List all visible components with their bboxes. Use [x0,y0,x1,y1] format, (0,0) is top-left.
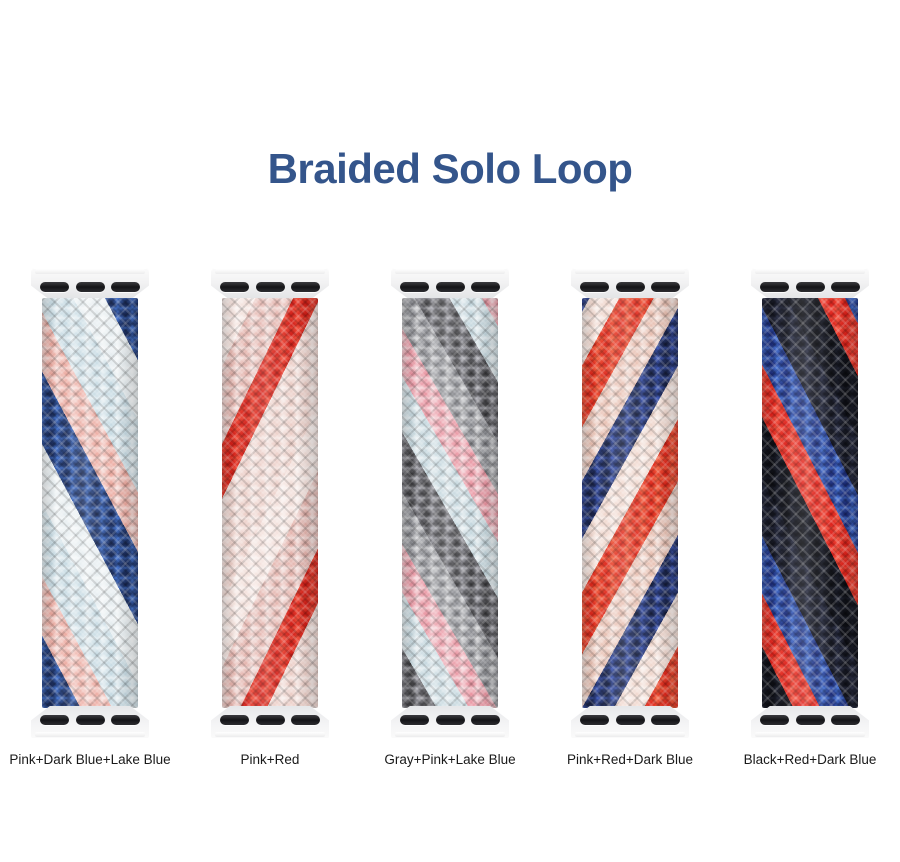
band-connector-slot-icon [760,282,789,292]
band-connector-slot-icon [256,282,285,292]
band-caption: Black+Red+Dark Blue [720,752,900,772]
band-connector-slot-icon [400,715,429,725]
band-connector-slot-icon [291,282,320,292]
band-connector-slot-icon [436,715,465,725]
lug-slot-group [40,281,140,292]
watch-band-lug-bottom [571,706,689,738]
watch-band[interactable] [391,268,509,738]
watch-band-lug-bottom [211,706,329,738]
band-connector-slot-icon [471,282,500,292]
lug-edge [215,732,325,737]
braid-shading [762,298,858,708]
lug-edge [575,732,685,737]
band-item[interactable] [360,268,540,738]
lug-slot-group [220,281,320,292]
watch-band-lug-bottom [391,706,509,738]
lug-slot-group [220,714,320,725]
band-connector-slot-icon [256,715,285,725]
band-connector-slot-icon [831,715,860,725]
braid-shading [222,298,318,708]
watch-band-lug-top [391,268,509,300]
band-connector-slot-icon [831,282,860,292]
band-connector-slot-icon [580,715,609,725]
band-connector-slot-icon [76,282,105,292]
watch-band-lug-bottom [31,706,149,738]
band-connector-slot-icon [40,715,69,725]
watch-band[interactable] [571,268,689,738]
band-connector-slot-icon [796,715,825,725]
lug-slot-group [400,714,500,725]
lug-edge [395,269,505,274]
lug-slot-group [400,281,500,292]
watch-band[interactable] [31,268,149,738]
page-title: Braided Solo Loop [0,145,900,193]
band-connector-slot-icon [220,715,249,725]
band-connector-slot-icon [796,282,825,292]
band-connector-slot-icon [111,282,140,292]
lug-slot-group [40,714,140,725]
band-item[interactable] [720,268,900,738]
band-connector-slot-icon [760,715,789,725]
band-connector-slot-icon [651,715,680,725]
band-item[interactable] [540,268,720,738]
lug-slot-group [580,714,680,725]
lug-edge [755,732,865,737]
band-connector-slot-icon [400,282,429,292]
braid-shading [402,298,498,708]
band-caption: Pink+Red [180,752,360,772]
band-caption: Pink+Dark Blue+Lake Blue [0,752,180,772]
band-item[interactable] [0,268,180,738]
lug-edge [35,732,145,737]
band-connector-slot-icon [111,715,140,725]
watch-band-lug-top [751,268,869,300]
band-connector-slot-icon [651,282,680,292]
lug-edge [35,269,145,274]
watch-band-lug-top [571,268,689,300]
band-connector-slot-icon [220,282,249,292]
band-connector-slot-icon [40,282,69,292]
band-connector-slot-icon [616,715,645,725]
lug-slot-group [760,281,860,292]
band-connector-slot-icon [436,282,465,292]
lug-edge [215,269,325,274]
watch-band-lug-top [31,268,149,300]
watch-band-lug-top [211,268,329,300]
band-item[interactable] [180,268,360,738]
braid-weave [222,298,318,708]
watch-band[interactable] [751,268,869,738]
braid-weave [582,298,678,708]
band-connector-slot-icon [291,715,320,725]
braid-shading [582,298,678,708]
watch-band[interactable] [211,268,329,738]
braid-shading [42,298,138,708]
lug-edge [755,269,865,274]
lug-slot-group [580,281,680,292]
band-connector-slot-icon [471,715,500,725]
lug-slot-group [760,714,860,725]
braid-weave [762,298,858,708]
lug-edge [575,269,685,274]
braid-weave [42,298,138,708]
band-caption: Pink+Red+Dark Blue [540,752,720,772]
caption-row: Pink+Dark Blue+Lake BluePink+RedGray+Pin… [0,752,900,772]
band-connector-slot-icon [616,282,645,292]
band-caption: Gray+Pink+Lake Blue [360,752,540,772]
lug-edge [395,732,505,737]
braid-weave [402,298,498,708]
watch-band-lug-bottom [751,706,869,738]
band-connector-slot-icon [76,715,105,725]
band-connector-slot-icon [580,282,609,292]
band-gallery [0,268,900,738]
